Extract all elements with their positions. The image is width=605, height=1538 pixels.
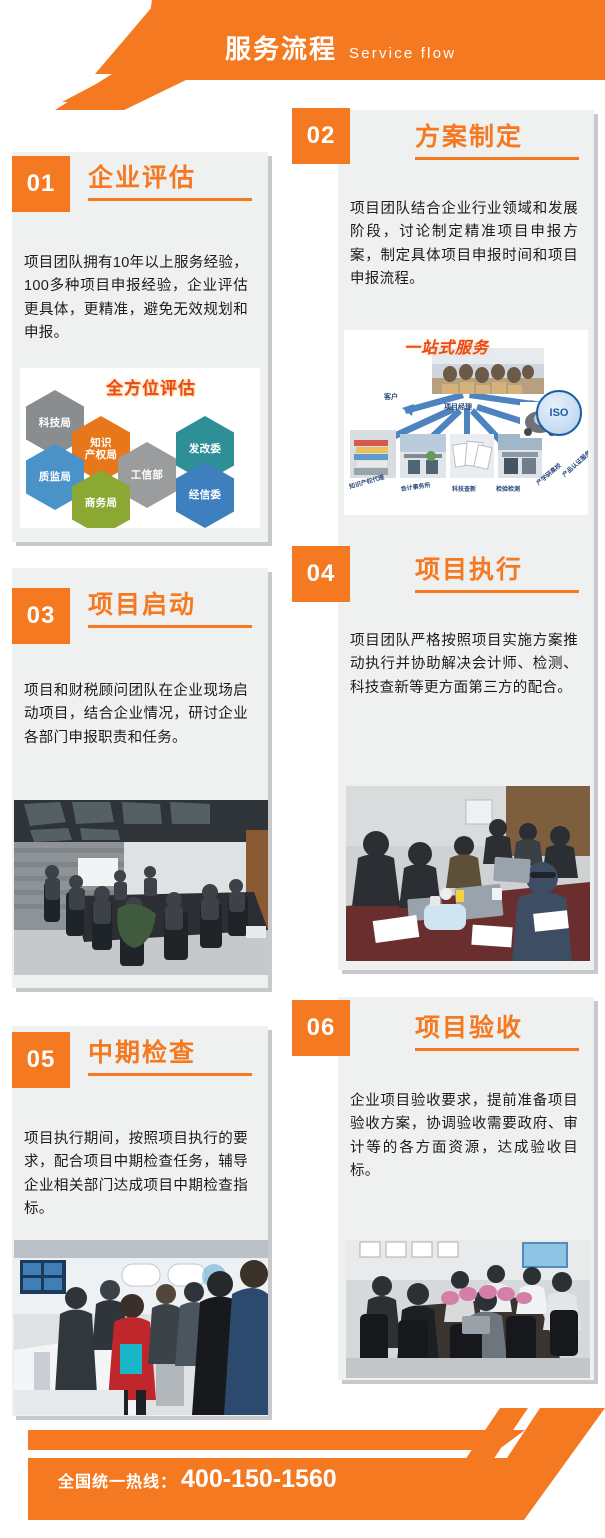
- header-title-cn: 服务流程: [225, 36, 337, 62]
- card-04-title-underline: [415, 590, 579, 593]
- onestop-diagram-title: 一站式服务: [404, 334, 489, 358]
- card-05-site-visit-photo: [14, 1240, 268, 1415]
- card-06-heading: 项目验收: [415, 1015, 579, 1051]
- card-01-title-underline: [88, 198, 252, 201]
- card-04-title: 项目执行: [415, 557, 579, 585]
- card-05-number-badge: 05: [12, 1032, 70, 1088]
- onestop-photo-accounting-firm: [400, 434, 446, 478]
- card-03-number-badge: 03: [12, 588, 70, 644]
- footer-hotline-group: 全国统一热线： 400-150-1560: [58, 1465, 337, 1494]
- card-04-number-badge: 04: [292, 546, 350, 602]
- onestop-photo-inspection-testing: [498, 434, 542, 478]
- hex-node-jingxin-wei: 经信委: [176, 462, 234, 528]
- onestop-label-inspection-testing: 检验检测: [496, 484, 520, 493]
- header-title-en: Service flow: [349, 46, 456, 61]
- card-04-working-session-photo: [346, 786, 590, 961]
- card-03-title-underline: [88, 625, 252, 628]
- card-03-meeting-room-photo: [14, 800, 268, 975]
- card-01-heading: 企业评估: [88, 165, 252, 201]
- card-02-heading: 方案制定: [415, 124, 579, 160]
- header-banner: 服务流程 Service flow: [0, 0, 605, 110]
- hexagon-evaluation-diagram: 全方位评估 科技局 知识产权局 质监局 工信部 商务局 发改委 经信委: [20, 368, 260, 528]
- card-06-acceptance-meeting-photo: [346, 1240, 590, 1378]
- footer-banner: 全国统一热线： 400-150-1560: [0, 1408, 605, 1538]
- card-02-title-underline: [415, 157, 579, 160]
- card-05-title: 中期检查: [88, 1040, 252, 1068]
- card-03-description: 项目和财税顾问团队在企业现场启动项目，结合企业情况，研讨企业各部门申报职责和任务…: [24, 680, 248, 750]
- footer-hotline-number[interactable]: 400-150-1560: [181, 1465, 337, 1494]
- card-02-number-badge: 02: [292, 108, 350, 164]
- onestop-service-diagram: 一站式服务: [344, 330, 588, 515]
- card-03-heading: 项目启动: [88, 592, 252, 628]
- onestop-label-kehu: 客户: [384, 392, 398, 402]
- onestop-iso-certification-seal: ISO: [536, 390, 582, 436]
- card-05-title-underline: [88, 1073, 252, 1076]
- onestop-photo-ip-agency: [350, 430, 396, 478]
- card-06-title: 项目验收: [415, 1015, 579, 1043]
- onestop-photo-tech-search: [450, 434, 494, 478]
- card-01-number-badge: 01: [12, 156, 70, 212]
- hexagon-diagram-title: 全方位评估: [106, 374, 196, 399]
- onestop-label-tech-search: 科技查新: [452, 484, 476, 493]
- card-02-description: 项目团队结合企业行业领域和发展阶段，讨论制定精准项目申报方案，制定具体项目申报时…: [350, 198, 578, 292]
- onestop-label-xiangmu-jingli: 项目经理: [444, 402, 472, 412]
- footer-hotline-label: 全国统一热线：: [58, 1468, 177, 1492]
- header-title-group: 服务流程 Service flow: [225, 36, 456, 62]
- card-04-description: 项目团队严格按照项目实施方案推动执行并协助解决会计师、检测、科技查新等更方面第三…: [350, 630, 578, 700]
- card-05-description: 项目执行期间，按照项目执行的要求，配合项目中期检查任务，辅导企业相关部门达成项目…: [24, 1128, 248, 1222]
- card-01-description: 项目团队拥有10年以上服务经验，100多种项目申报经验，企业评估更具体，更精准，…: [24, 252, 248, 346]
- card-02-title: 方案制定: [415, 124, 579, 152]
- card-01-title: 企业评估: [88, 165, 252, 193]
- card-06-description: 企业项目验收要求，提前准备项目验收方案，协调验收需要政府、审计等的各方面资源，达…: [350, 1090, 578, 1184]
- card-03-title: 项目启动: [88, 592, 252, 620]
- card-05-heading: 中期检查: [88, 1040, 252, 1076]
- card-04-heading: 项目执行: [415, 557, 579, 593]
- card-06-title-underline: [415, 1048, 579, 1051]
- card-06-number-badge: 06: [292, 1000, 350, 1056]
